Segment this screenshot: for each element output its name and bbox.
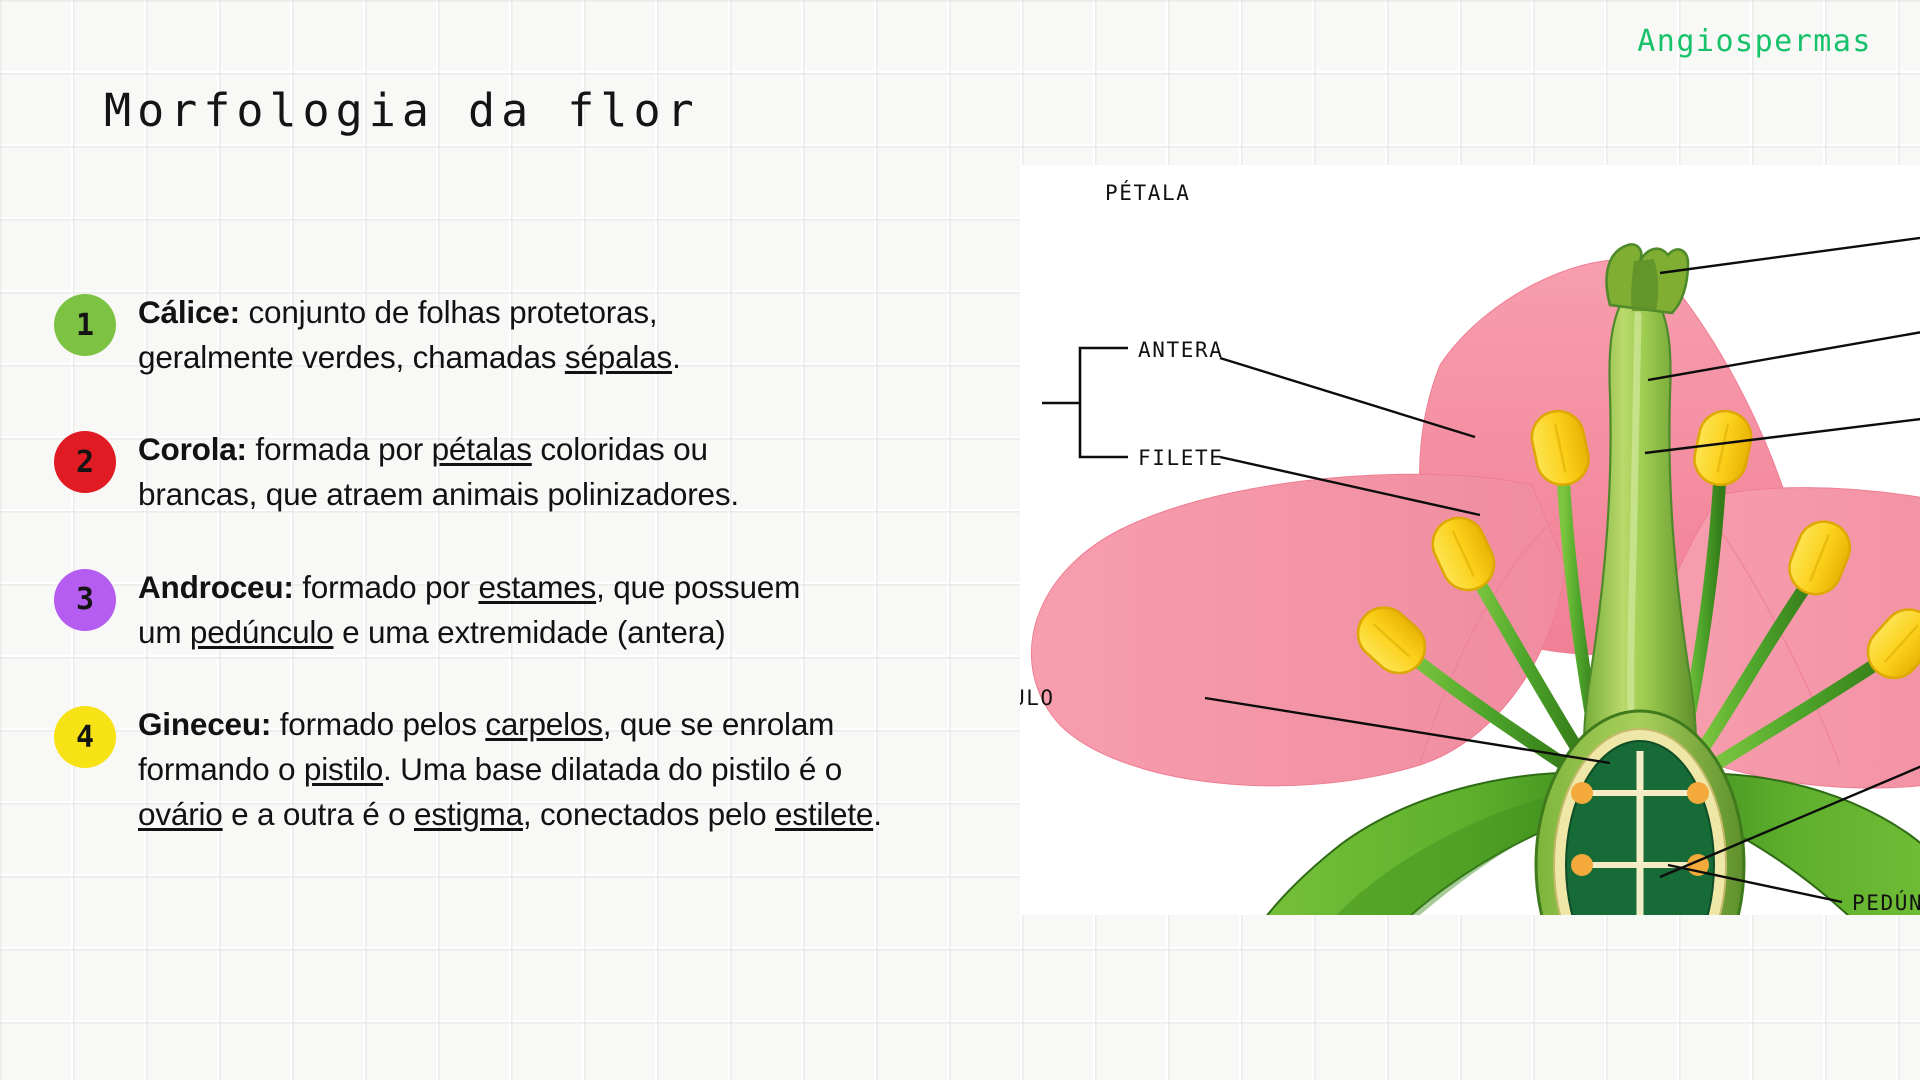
- point-3-line2-a: um: [138, 614, 190, 650]
- petal-left: [1031, 474, 1565, 786]
- point-2-line1-b: coloridas ou: [532, 431, 708, 467]
- point-3-line1-underline: estames: [478, 569, 596, 605]
- list-item: 2 Corola: formada por pétalas coloridas …: [54, 427, 1064, 516]
- point-4-line1-b: , que se enrolam: [603, 706, 834, 742]
- ovule: [1687, 782, 1709, 804]
- point-4-line3-c: .: [873, 796, 882, 832]
- point-1-line2-b: .: [672, 339, 681, 375]
- label-petala: PÉTALA: [1105, 180, 1190, 205]
- point-4-line1-a: formado pelos: [271, 706, 485, 742]
- point-term-2: Corola:: [138, 431, 247, 467]
- point-4-line3-b: , conectados pelo: [523, 796, 775, 832]
- list-item: 3 Androceu: formado por estames, que pos…: [54, 565, 1064, 654]
- list-item: 1 Cálice: conjunto de folhas protetoras,…: [54, 290, 1064, 379]
- flower-diagram-panel: PÉTALA ESTAME ANTERA FILETE ESTIGMA ESTI…: [1020, 165, 1920, 915]
- point-1-line2-underline: sépalas: [565, 339, 672, 375]
- flower-anatomy-illustration: PÉTALA ESTAME ANTERA FILETE ESTIGMA ESTI…: [1020, 165, 1920, 915]
- point-1-line1-rest: conjunto de folhas protetoras,: [240, 294, 658, 330]
- point-term-1: Cálice:: [138, 294, 240, 330]
- point-4-line3-a: e a outra é o: [223, 796, 414, 832]
- point-3-line2-underline: pedúnculo: [190, 614, 334, 650]
- point-4-line3-underline-2: estigma: [414, 796, 523, 832]
- point-badge-2: 2: [54, 431, 116, 493]
- ovule: [1571, 854, 1593, 876]
- point-4-line1-underline: carpelos: [485, 706, 602, 742]
- point-4-line3-underline-1: ovário: [138, 796, 223, 832]
- label-peduncolo: PEDÚNCULO: [1852, 890, 1920, 915]
- point-1-line2-a: geralmente verdes, chamadas: [138, 339, 565, 375]
- point-4-line2-a: formando o: [138, 751, 304, 787]
- point-2-line2: brancas, que atraem animais polinizadore…: [138, 476, 739, 512]
- point-badge-1: 1: [54, 294, 116, 356]
- course-tag: Angiospermas: [1637, 24, 1872, 59]
- stigma-shade: [1631, 259, 1658, 311]
- point-text-3: Androceu: formado por estames, que possu…: [138, 565, 800, 654]
- leader-estigma: [1660, 213, 1920, 273]
- point-3-line1-b: , que possuem: [596, 569, 800, 605]
- page-title: Morfologia da flor: [104, 84, 700, 137]
- point-badge-3: 3: [54, 569, 116, 631]
- point-term-3: Androceu:: [138, 569, 294, 605]
- point-3-line1-a: formado por: [294, 569, 479, 605]
- point-badge-4: 4: [54, 706, 116, 768]
- morphology-points-list: 1 Cálice: conjunto de folhas protetoras,…: [54, 290, 1064, 884]
- label-antera: ANTERA: [1138, 338, 1223, 362]
- point-2-line1-underline: pétalas: [432, 431, 532, 467]
- point-text-1: Cálice: conjunto de folhas protetoras, g…: [138, 290, 681, 379]
- list-item: 4 Gineceu: formado pelos carpelos, que s…: [54, 702, 1064, 836]
- point-4-line3-underline-3: estilete: [775, 796, 873, 832]
- label-filete: FILETE: [1138, 446, 1223, 470]
- point-text-4: Gineceu: formado pelos carpelos, que se …: [138, 702, 882, 836]
- point-4-line2-b: . Uma base dilatada do pistilo é o: [383, 751, 842, 787]
- point-text-2: Corola: formada por pétalas coloridas ou…: [138, 427, 739, 516]
- point-term-4: Gineceu:: [138, 706, 271, 742]
- ovule: [1571, 782, 1593, 804]
- bracket-estame: [1080, 348, 1128, 457]
- point-4-line2-underline: pistilo: [304, 751, 383, 787]
- point-2-line1-a: formada por: [247, 431, 432, 467]
- point-3-line2-b: e uma extremidade (antera): [334, 614, 726, 650]
